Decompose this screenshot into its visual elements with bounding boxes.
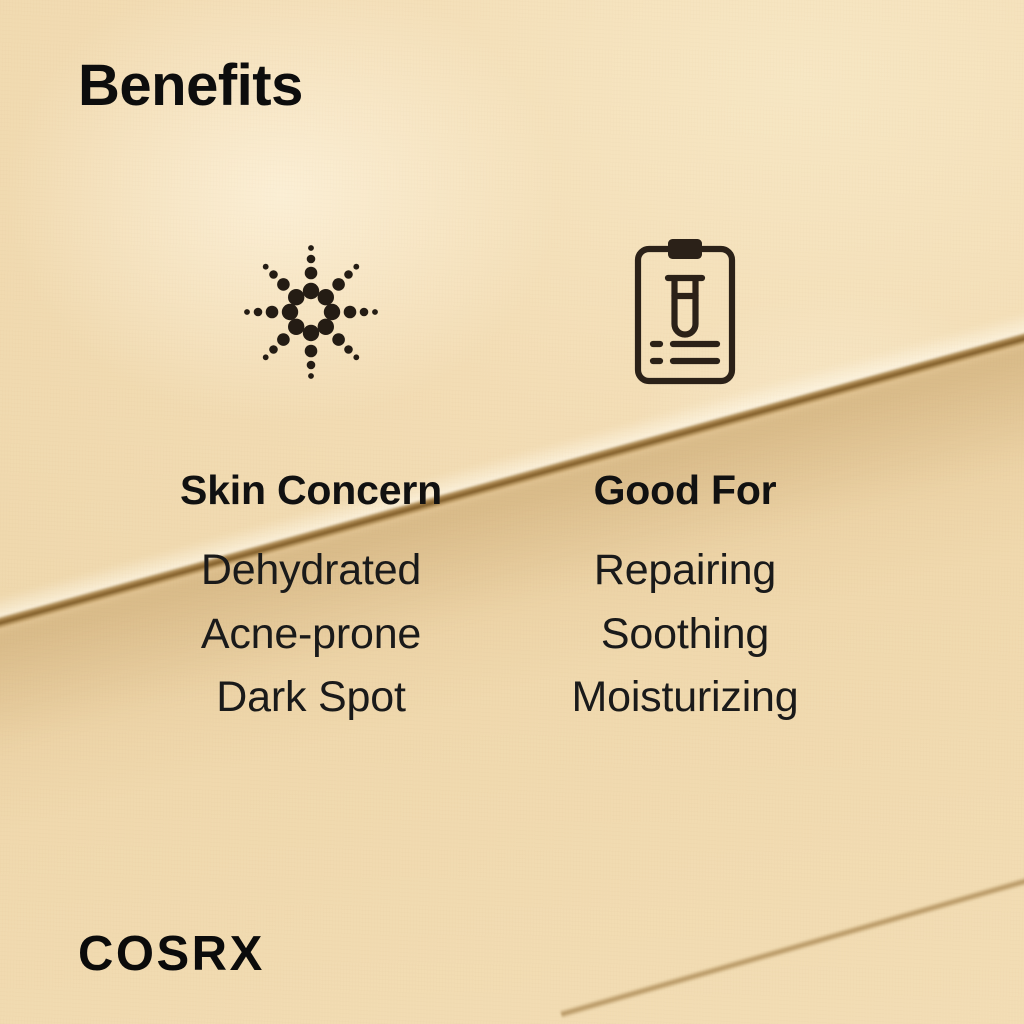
- content-layer: Benefits: [0, 0, 1024, 1024]
- list-item: Moisturizing: [571, 666, 798, 730]
- clipboard-test-tube-icon: [632, 237, 738, 387]
- list-item: Acne-prone: [201, 603, 421, 667]
- brand-logo-cosrx: COSRX: [78, 930, 265, 979]
- list-item: Dehydrated: [201, 539, 421, 603]
- list-item: Dark Spot: [201, 666, 421, 730]
- column-heading-good-for: Good For: [594, 470, 777, 511]
- column-heading-skin-concern: Skin Concern: [180, 470, 442, 511]
- page-title: Benefits: [78, 57, 303, 115]
- benefit-column-skin-concern: Skin Concern Dehydrated Acne-prone Dark …: [136, 232, 486, 730]
- icon-container-skin-concern: [236, 232, 386, 392]
- benefit-column-good-for: Good For Repairing Soothing Moisturizing: [510, 232, 860, 730]
- dotted-starburst-icon: [236, 237, 386, 387]
- benefit-list-good-for: Repairing Soothing Moisturizing: [571, 539, 798, 730]
- benefit-columns: Skin Concern Dehydrated Acne-prone Dark …: [0, 232, 1024, 730]
- benefits-infographic: Benefits: [0, 0, 1024, 1024]
- benefit-list-skin-concern: Dehydrated Acne-prone Dark Spot: [201, 539, 421, 730]
- icon-container-good-for: [632, 232, 738, 392]
- list-item: Repairing: [571, 539, 798, 603]
- list-item: Soothing: [571, 603, 798, 667]
